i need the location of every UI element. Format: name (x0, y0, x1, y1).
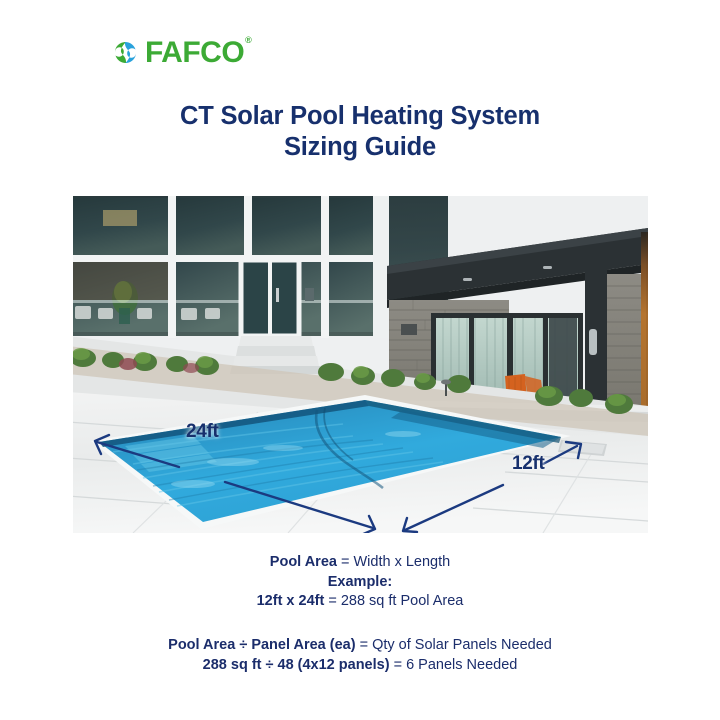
panel-quantity-definition: = Qty of Solar Panels Needed (356, 637, 552, 653)
page-title-line-2: Sizing Guide (0, 132, 720, 163)
panel-quantity-example-result: = 6 Panels Needed (390, 657, 518, 673)
panel-quantity-formula-line: Pool Area ÷ Panel Area (ea) = Qty of Sol… (0, 636, 720, 656)
page-title: CT Solar Pool Heating System Sizing Guid… (0, 101, 720, 163)
pool-width-label: 12ft (512, 453, 545, 475)
example-heading-line: Example: (0, 573, 720, 593)
pool-photo (73, 196, 648, 533)
wordmark-text: FAFCO (145, 36, 244, 69)
example-result: = 288 sq ft Pool Area (324, 593, 463, 609)
fafco-wordmark: FAFCO® (145, 38, 250, 68)
example-dimensions: 12ft x 24ft (257, 593, 325, 609)
pool-area-formula-block: Pool Area = Width x Length Example: 12ft… (0, 553, 720, 612)
brand-logo: FAFCO® (113, 36, 250, 68)
page-title-line-1: CT Solar Pool Heating System (0, 101, 720, 132)
example-heading: Example: (328, 574, 392, 590)
registered-trademark-icon: ® (245, 35, 251, 45)
panel-quantity-term: Pool Area ÷ Panel Area (ea) (168, 637, 355, 653)
panel-quantity-example-line: 288 sq ft ÷ 48 (4x12 panels) = 6 Panels … (0, 656, 720, 676)
pool-area-definition: = Width x Length (337, 554, 450, 570)
pool-area-term: Pool Area (270, 554, 337, 570)
fafco-swirl-logo-icon (113, 40, 138, 65)
pool-area-formula-line: Pool Area = Width x Length (0, 553, 720, 573)
panel-quantity-example-terms: 288 sq ft ÷ 48 (4x12 panels) (203, 657, 390, 673)
example-calculation-line: 12ft x 24ft = 288 sq ft Pool Area (0, 592, 720, 612)
pool-length-label: 24ft (186, 421, 219, 443)
panel-quantity-formula-block: Pool Area ÷ Panel Area (ea) = Qty of Sol… (0, 636, 720, 675)
